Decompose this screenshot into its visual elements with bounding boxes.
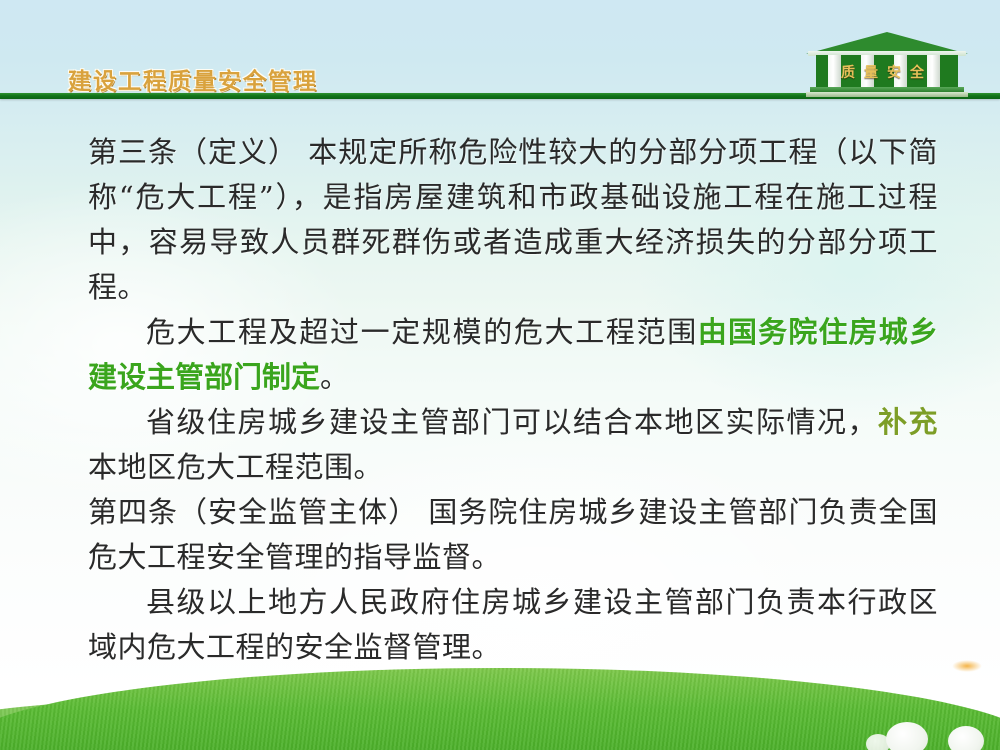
paragraph-article-3: 第三条（定义） 本规定所称危险性较大的分部分项工程（以下简称“危大工程”），是指… <box>0 130 1000 310</box>
quality-safety-temple-logo: 质量安全 <box>806 32 968 98</box>
text-run: 危大工程及超过一定规模的危大工程范围 <box>146 315 698 349</box>
text-run: 第四条（安全监管主体） 国务院住房城乡建设主管部门负责全国危大工程安全管理的指导… <box>88 495 938 574</box>
flower-cluster-icon <box>952 660 982 672</box>
highlighted-text-run: 补充 <box>878 405 938 439</box>
temple-base-lower <box>806 92 968 97</box>
paragraph-provincial-supplement: 省级住房城乡建设主管部门可以结合本地区实际情况，补充本地区危大工程范围。 <box>0 400 1000 490</box>
temple-body: 质量安全 <box>816 55 958 88</box>
paragraph-scope-defined-by: 危大工程及超过一定规模的危大工程范围由国务院住房城乡建设主管部门制定。 <box>0 310 1000 400</box>
text-run: 第三条（定义） 本规定所称危险性较大的分部分项工程（以下简称“危大工程”），是指… <box>88 135 938 304</box>
logo-text: 质量安全 <box>816 62 958 82</box>
footer-grass-decoration <box>0 654 1000 750</box>
text-run: 。 <box>320 360 350 394</box>
slide-body: 第三条（定义） 本规定所称危险性较大的分部分项工程（以下简称“危大工程”），是指… <box>0 130 1000 670</box>
grass-hill-front <box>0 668 1000 750</box>
presentation-slide: 建设工程质量安全管理 质量安全 第三条（定义） 本规定所称危险性较大的分部分项工… <box>0 0 1000 750</box>
page-title: 建设工程质量安全管理 <box>68 62 318 96</box>
sheep-icon <box>886 722 928 750</box>
sheep-icon <box>948 726 984 750</box>
slide-header: 建设工程质量安全管理 质量安全 <box>0 0 1000 99</box>
text-run: 本地区危大工程范围。 <box>88 450 383 484</box>
paragraph-article-4: 第四条（安全监管主体） 国务院住房城乡建设主管部门负责全国危大工程安全管理的指导… <box>0 490 1000 580</box>
text-run: 县级以上地方人民政府住房城乡建设主管部门负责本行政区域内危大工程的安全监督管理。 <box>88 585 938 664</box>
text-run: 省级住房城乡建设主管部门可以结合本地区实际情况， <box>146 405 878 439</box>
